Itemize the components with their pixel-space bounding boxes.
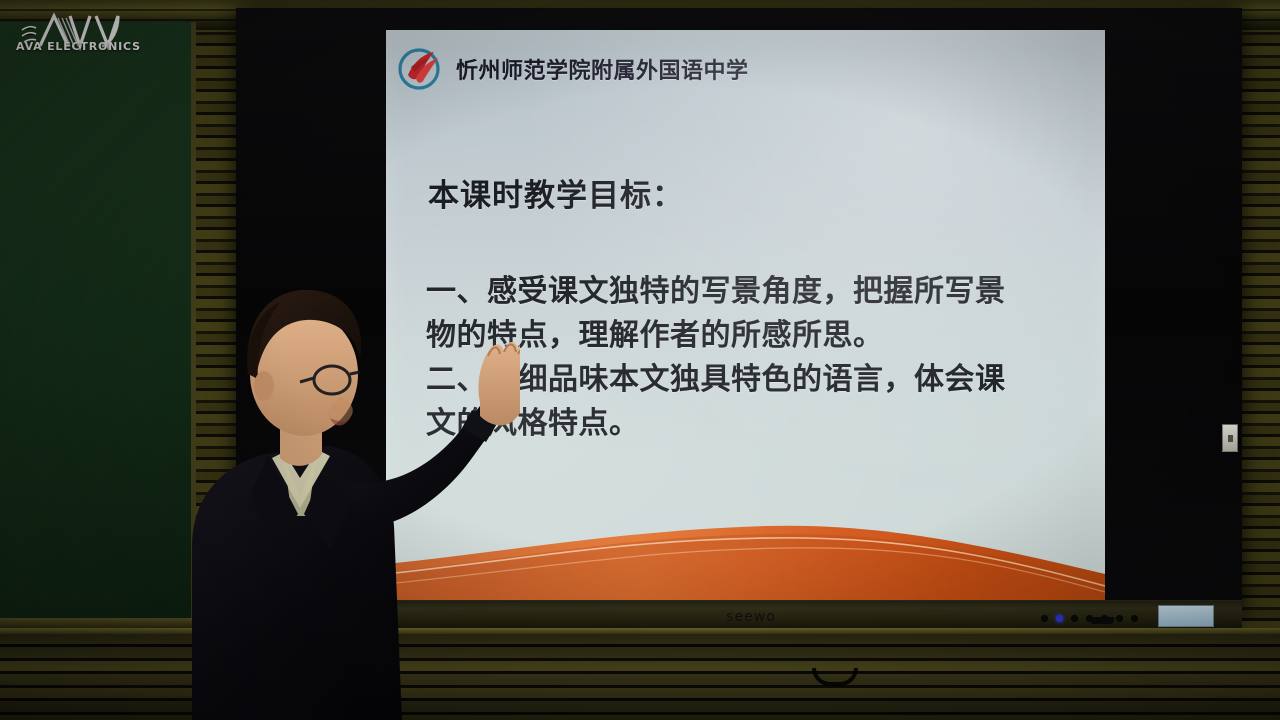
control-button-indicator-lit[interactable] [1056, 615, 1063, 622]
school-crest-icon [396, 45, 446, 93]
slide-body: 一、感受课文独特的写景角度，把握所写景 物的特点，理解作者的所感所思。 二、仔细… [426, 270, 1078, 446]
slide-body-line-2: 物的特点，理解作者的所感所思。 [426, 314, 1078, 358]
wall-switch-plate[interactable] [1222, 424, 1238, 452]
slide-body-line-3: 二、仔细品味本文独具特色的语言，体会课 [426, 358, 1078, 402]
control-button-6[interactable] [1116, 615, 1123, 622]
slide-body-line-1: 一、感受课文独特的写景角度，把握所写景 [426, 270, 1078, 314]
wall-slats-right [1240, 0, 1280, 720]
control-button-7[interactable] [1131, 615, 1138, 622]
board-control-buttons[interactable] [1041, 615, 1138, 622]
slide-body-line-4: 文的风格特点。 [426, 402, 1078, 446]
teacher-presenter [180, 246, 520, 720]
control-button-power[interactable] [1041, 615, 1048, 622]
board-sticker-label [1158, 605, 1214, 627]
control-button-3[interactable] [1071, 615, 1078, 622]
green-chalkboard [0, 22, 200, 622]
seewo-brand-label: seewo [676, 609, 826, 625]
ava-brand-label: AVA ELECTRONICS [16, 40, 141, 53]
classroom-scene: 忻州师范学院附属外国语中学 本课时教学目标： 一、感受课文独特的写景角度，把握所… [0, 0, 1280, 720]
school-name: 忻州师范学院附属外国语中学 [456, 53, 749, 85]
slide-title: 本课时教学目标： [428, 170, 1068, 215]
ava-logo-icon [14, 6, 144, 64]
slide-header: 忻州师范学院附属外国语中学 [396, 38, 1095, 100]
board-knob[interactable] [1091, 617, 1115, 624]
